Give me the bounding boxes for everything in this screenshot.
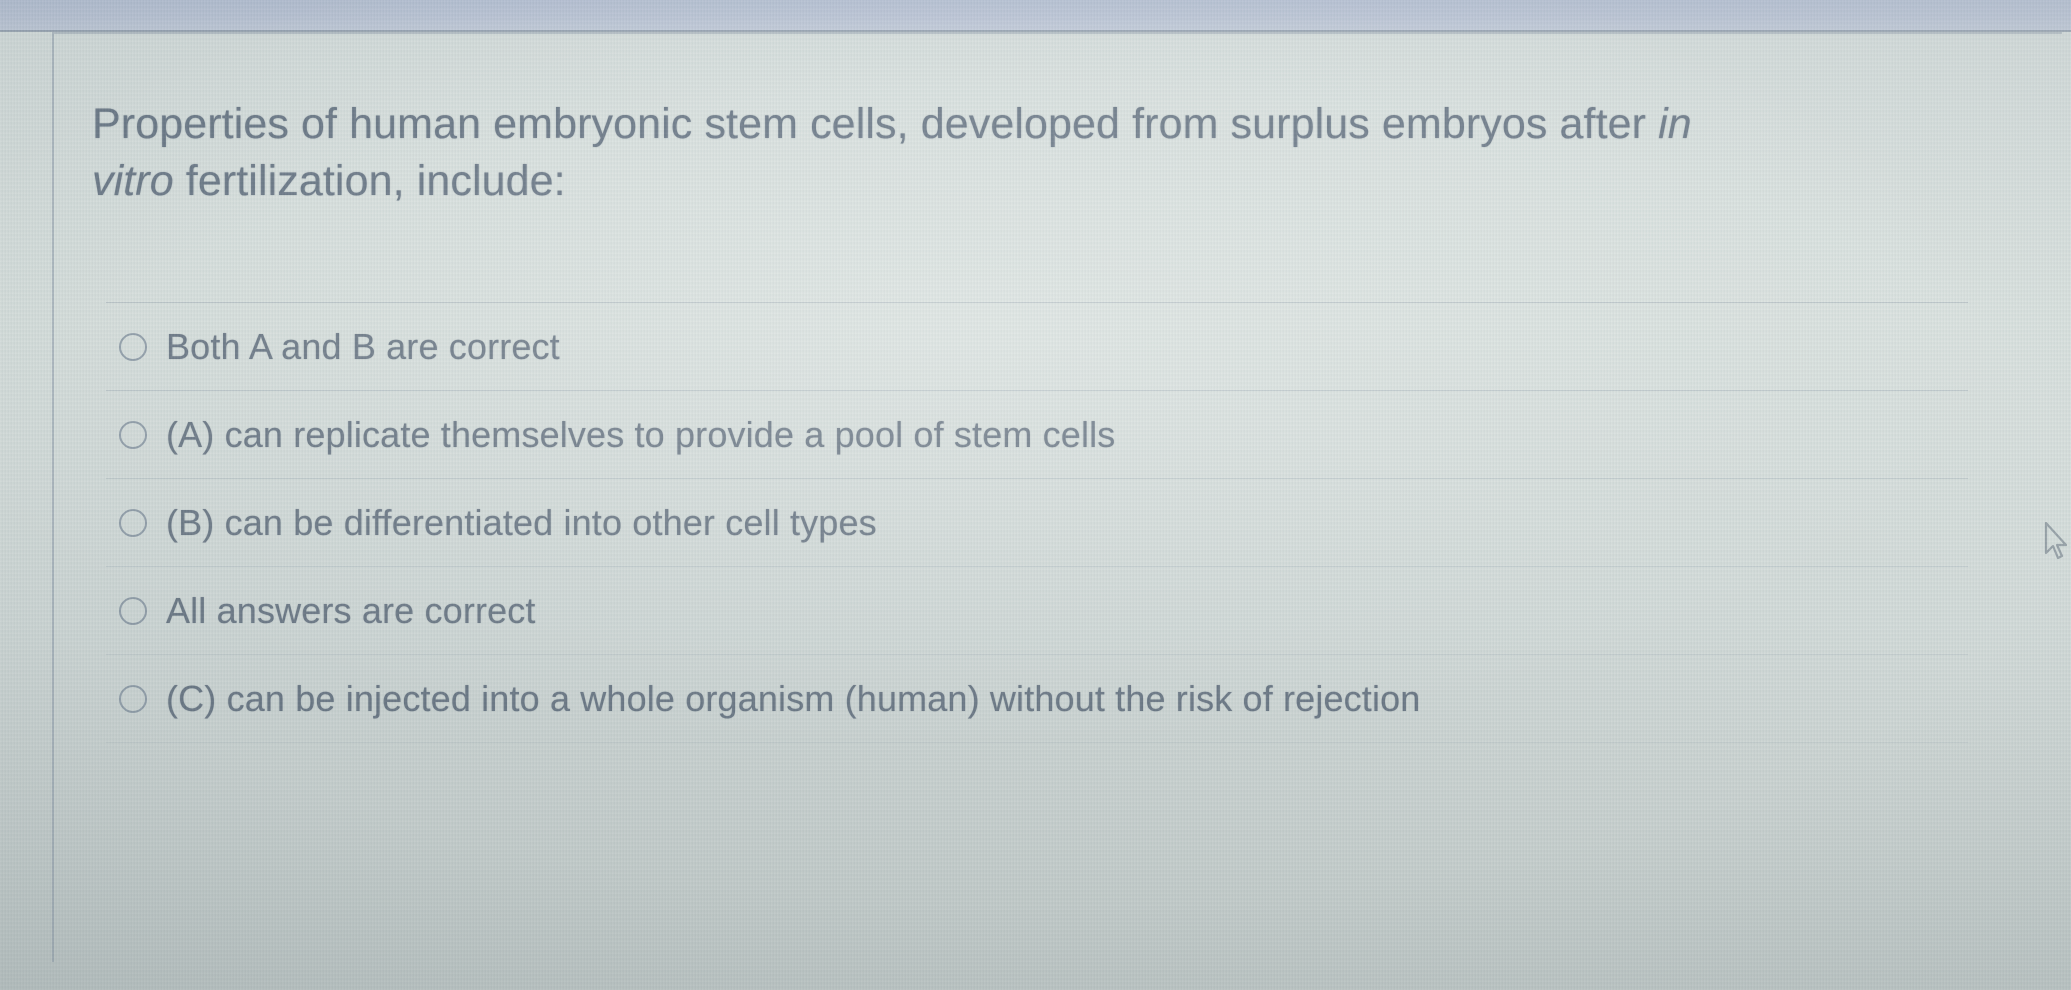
- radio-button-icon-3[interactable]: [119, 597, 147, 625]
- radio-button-icon-0[interactable]: [119, 333, 147, 361]
- question-line-1: Properties of human embryonic stem cells…: [92, 96, 1512, 153]
- question-line-1-text: Properties of human embryonic stem cells…: [92, 100, 1658, 148]
- quiz-question-card: Properties of human embryonic stem cells…: [52, 32, 2062, 962]
- question-italic-vitro: vitro: [92, 157, 174, 205]
- option-row-4[interactable]: (C) can be injected into a whole organis…: [106, 655, 1968, 742]
- question-text: Properties of human embryonic stem cells…: [92, 96, 1512, 210]
- option-label-4: (C) can be injected into a whole organis…: [166, 678, 1420, 720]
- question-line-2-text: fertilization, include:: [174, 157, 566, 205]
- answer-options-list: Both A and B are correct (A) can replica…: [106, 302, 1968, 743]
- option-row-2[interactable]: (B) can be differentiated into other cel…: [106, 479, 1968, 566]
- question-italic-in: in: [1658, 100, 1692, 148]
- option-divider: [106, 742, 1968, 743]
- browser-chrome-strip: [0, 0, 2071, 31]
- option-row-0[interactable]: Both A and B are correct: [106, 303, 1968, 390]
- photographed-screen: Properties of human embryonic stem cells…: [0, 0, 2071, 990]
- mouse-pointer-icon: [2044, 522, 2070, 562]
- option-label-0: Both A and B are correct: [166, 326, 560, 368]
- radio-button-icon-4[interactable]: [119, 685, 147, 713]
- option-label-1: (A) can replicate themselves to provide …: [166, 414, 1115, 456]
- option-label-3: All answers are correct: [166, 590, 536, 632]
- option-row-3[interactable]: All answers are correct: [106, 567, 1968, 654]
- radio-button-icon-1[interactable]: [119, 421, 147, 449]
- radio-button-icon-2[interactable]: [119, 509, 147, 537]
- option-row-1[interactable]: (A) can replicate themselves to provide …: [106, 391, 1968, 478]
- question-line-2: vitro fertilization, include:: [92, 153, 1512, 210]
- option-label-2: (B) can be differentiated into other cel…: [166, 502, 877, 544]
